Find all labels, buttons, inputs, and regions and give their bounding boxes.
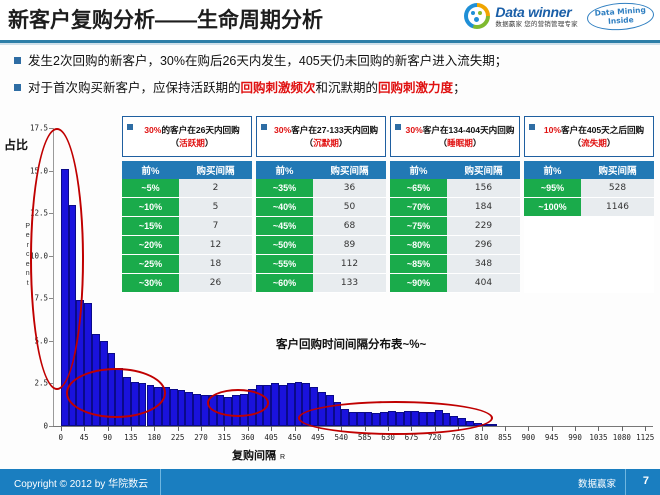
table-cell-percent: ~20% (122, 236, 179, 255)
x-axis-title-suffix: R (280, 454, 285, 461)
bullet-list: 发生2次回购的新客户，30%在购后26天内发生，405天仍未回购的新客户进入流失… (0, 48, 660, 102)
table-cell-interval: 68 (313, 217, 386, 236)
x-axis-tick-label: 765 (451, 433, 465, 442)
data-winner-logo-icon (464, 3, 490, 29)
table-cell-percent: ~90% (390, 274, 447, 293)
histogram-bar (287, 383, 295, 426)
x-axis-tick-mark (552, 426, 553, 431)
table-cell-interval: 50 (313, 198, 386, 217)
logo-dot-3 (474, 17, 479, 22)
bullet-plain: ； (453, 81, 466, 95)
x-axis-tick-label: 1080 (613, 433, 631, 442)
header-square-icon (261, 124, 267, 130)
x-axis-tick-mark (84, 426, 85, 431)
bullet-highlight: 回购刺激频次 (241, 81, 316, 95)
x-axis-tick-label: 405 (264, 433, 278, 442)
bullet-text: 发生2次回购的新客户，30%在购后26天内发生，405天仍未回购的新客户进入流失… (28, 52, 507, 71)
x-axis-tick-mark (154, 426, 155, 431)
y-axis-label-cn: 占比 (4, 136, 28, 153)
percent-column: 前%~95%~100% (524, 161, 581, 293)
histogram-bar (193, 394, 201, 426)
table-cell-percent: ~10% (122, 198, 179, 217)
table-cell-interval: 404 (447, 274, 520, 293)
bullet-item-1: 发生2次回购的新客户，30%在购后26天内发生，405天仍未回购的新客户进入流失… (0, 48, 660, 75)
period-table-header: 30%客户在27-133天内回购（沉默期） (256, 116, 386, 157)
x-axis-tick-label: 360 (241, 433, 255, 442)
table-cell-interval: 36 (313, 179, 386, 198)
x-axis-tick-label: 720 (428, 433, 442, 442)
period-table-4: 10%客户在405天之后回购（流失期）前%~95%~100%购买间隔528114… (524, 116, 654, 293)
x-axis-title-text: 复购间隔 (232, 450, 276, 462)
chart-caption: 客户回购时间间隔分布表~%~ (276, 336, 426, 352)
data-mining-inside-stamp-icon: Data Mining Inside (586, 1, 655, 32)
period-table-1: 30%的客户在26天内回购（活跃期）前%~5%~10%~15%~20%~25%~… (122, 116, 252, 293)
period-paren: ） (473, 138, 482, 148)
brand-text: Data winner 数据赢家 您的营销管理专家 (495, 5, 577, 29)
table-cell-percent: ~55% (256, 255, 313, 274)
table-cell-percent (524, 274, 581, 293)
brand-name: Data winner (495, 5, 577, 19)
x-axis-tick-mark (224, 426, 225, 431)
period-paren: ） (205, 138, 214, 148)
churn-period-ellipse-icon (298, 401, 493, 435)
interval-column: 购买间隔257121826 (179, 161, 252, 293)
column-header-percent: 前% (122, 161, 179, 179)
footer-copyright: Copyright © 2012 by 华院数云 (14, 475, 148, 490)
column-header-interval: 购买间隔 (581, 161, 654, 179)
table-cell-interval: 5 (179, 198, 252, 217)
period-header-text: 10%客户在405天之后回购（流失期） (539, 124, 649, 150)
x-axis-tick-label: 90 (103, 433, 112, 442)
x-axis-tick-label: 180 (148, 433, 162, 442)
table-cell-interval: 133 (313, 274, 386, 293)
table-cell-interval: 1146 (581, 198, 654, 217)
column-header-interval: 购买间隔 (313, 161, 386, 179)
x-axis-title: 复购间隔R (232, 447, 285, 463)
column-header-percent: 前% (524, 161, 581, 179)
x-axis-tick-mark (482, 426, 483, 431)
x-axis-tick-label: 135 (124, 433, 138, 442)
period-header-text: 30%客户在134-404天内回购（睡眠期） (405, 124, 515, 150)
table-cell-interval: 26 (179, 274, 252, 293)
x-axis-tick-label: 900 (522, 433, 536, 442)
table-cell-percent (524, 255, 581, 274)
slide-footer: Copyright © 2012 by 华院数云 数据赢家 7 (0, 469, 660, 495)
table-cell-interval: 156 (447, 179, 520, 198)
table-cell-interval: 348 (447, 255, 520, 274)
x-axis-tick-label: 495 (311, 433, 325, 442)
x-axis-tick-label: 1035 (589, 433, 607, 442)
table-cell-percent: ~80% (390, 236, 447, 255)
table-cell-percent: ~75% (390, 217, 447, 236)
bullet-text: 对于首次购买新客户，应保持活跃期的回购刺激频次和沉默期的回购刺激力度； (28, 79, 466, 98)
x-axis-tick-mark (178, 426, 179, 431)
period-percent: 30% (144, 125, 161, 135)
histogram-bar (185, 392, 193, 426)
interval-column: 购买间隔36506889112133 (313, 161, 386, 293)
period-stage-name: 流失期 (581, 138, 607, 148)
y-axis-tick-label: 17.5 (30, 124, 48, 133)
table-cell-percent: ~45% (256, 217, 313, 236)
bullet-plain: 发生2次回购的新客户，30%在购后26天内发生，405天仍未回购的新客户进入流失… (28, 54, 507, 68)
x-axis-tick-label: 270 (194, 433, 208, 442)
table-cell-interval: 12 (179, 236, 252, 255)
table-cell-percent: ~85% (390, 255, 447, 274)
period-header-text: 30%的客户在26天内回购（活跃期） (137, 124, 247, 150)
interval-column: 购买间隔5281146 (581, 161, 654, 293)
x-axis-tick-mark (528, 426, 529, 431)
period-table-2: 30%客户在27-133天内回购（沉默期）前%~35%~40%~45%~50%~… (256, 116, 386, 293)
table-cell-percent: ~60% (256, 274, 313, 293)
period-paren: ） (607, 138, 616, 148)
bullet-highlight: 回购刺激力度 (378, 81, 453, 95)
page-title: 新客户复购分析——生命周期分析 (8, 4, 323, 34)
table-cell-interval (581, 236, 654, 255)
slide-header: 新客户复购分析——生命周期分析 Data winner 数据赢家 您的营销管理专… (0, 0, 660, 40)
table-cell-percent: ~15% (122, 217, 179, 236)
column-header-interval: 购买间隔 (179, 161, 252, 179)
table-cell-interval (581, 217, 654, 236)
period-paren: ） (339, 138, 348, 148)
x-axis-tick-label: 1125 (636, 433, 654, 442)
x-axis-tick-mark (61, 426, 62, 431)
footer-brand: 数据赢家 (578, 476, 616, 490)
bullet-item-2: 对于首次购买新客户，应保持活跃期的回购刺激频次和沉默期的回购刺激力度； (0, 75, 660, 102)
x-axis-tick-label: 810 (475, 433, 489, 442)
table-cell-interval: 7 (179, 217, 252, 236)
table-cell-interval: 296 (447, 236, 520, 255)
x-axis-tick-label: 225 (171, 433, 185, 442)
table-cell-interval: 229 (447, 217, 520, 236)
period-tables: 30%的客户在26天内回购（活跃期）前%~5%~10%~15%~20%~25%~… (122, 116, 654, 293)
table-cell-percent: ~35% (256, 179, 313, 198)
x-axis-tick-label: 0 (59, 433, 64, 442)
slide-root: 新客户复购分析——生命周期分析 Data winner 数据赢家 您的营销管理专… (0, 0, 660, 495)
period-stage-name: 睡眠期 (447, 138, 473, 148)
brand-tagline: 数据赢家 您的营销管理专家 (495, 22, 577, 29)
table-cell-interval: 89 (313, 236, 386, 255)
table-cell-percent (524, 217, 581, 236)
x-axis-tick-label: 315 (218, 433, 232, 442)
period-table-body: 前%~65%~70%~75%~80%~85%~90%购买间隔1561842292… (390, 161, 520, 293)
x-axis-tick-label: 45 (80, 433, 89, 442)
period-percent: 10% (544, 125, 561, 135)
footer-divider-left (160, 469, 161, 495)
x-axis-tick-mark (505, 426, 506, 431)
bullet-plain: 和沉默期的 (316, 81, 379, 95)
bullet-square-icon (14, 57, 21, 64)
table-cell-percent: ~30% (122, 274, 179, 293)
x-axis-tick-mark (201, 426, 202, 431)
period-table-header: 30%的客户在26天内回购（活跃期） (122, 116, 252, 157)
table-cell-interval (581, 255, 654, 274)
x-axis-tick-mark (598, 426, 599, 431)
x-axis-tick-label: 450 (288, 433, 302, 442)
histogram-bar (279, 385, 287, 426)
interval-column: 购买间隔156184229296348404 (447, 161, 520, 293)
x-axis-tick-mark (622, 426, 623, 431)
column-header-percent: 前% (390, 161, 447, 179)
table-cell-percent: ~5% (122, 179, 179, 198)
header-square-icon (529, 124, 535, 130)
y-axis-tick-label: 0 (43, 422, 48, 431)
table-cell-percent: ~65% (390, 179, 447, 198)
table-cell-interval: 2 (179, 179, 252, 198)
bullet-plain: 对于首次购买新客户，应保持活跃期的 (28, 81, 241, 95)
x-axis-tick-label: 855 (498, 433, 512, 442)
period-table-3: 30%客户在134-404天内回购（睡眠期）前%~65%~70%~75%~80%… (390, 116, 520, 293)
percent-column: 前%~5%~10%~15%~20%~25%~30% (122, 161, 179, 293)
period-stage-name: 活跃期 (179, 138, 205, 148)
period-table-body: 前%~5%~10%~15%~20%~25%~30%购买间隔257121826 (122, 161, 252, 293)
footer-page-number: 7 (643, 475, 649, 487)
table-cell-percent: ~95% (524, 179, 581, 198)
logo-dot-1 (471, 11, 475, 15)
x-axis-tick-mark (575, 426, 576, 431)
table-cell-percent: ~25% (122, 255, 179, 274)
y-axis-tick-mark (49, 426, 53, 427)
x-axis-tick-label: 945 (545, 433, 559, 442)
histogram-bar (178, 390, 186, 426)
column-header-percent: 前% (256, 161, 313, 179)
x-axis-tick-label: 990 (568, 433, 582, 442)
period-percent: 30% (274, 125, 291, 135)
x-axis-tick-mark (295, 426, 296, 431)
histogram-bar (170, 389, 178, 426)
period-header-text: 30%客户在27-133天内回购（沉默期） (271, 124, 381, 150)
period-table-body: 前%~35%~40%~45%~50%~55%~60%购买间隔3650688911… (256, 161, 386, 293)
x-axis-tick-mark (248, 426, 249, 431)
table-cell-interval: 18 (179, 255, 252, 274)
percent-column: 前%~65%~70%~75%~80%~85%~90% (390, 161, 447, 293)
column-header-interval: 购买间隔 (447, 161, 520, 179)
footer-divider-right (625, 469, 626, 495)
table-cell-percent: ~50% (256, 236, 313, 255)
histogram-bar (271, 383, 279, 426)
header-divider-secondary (0, 43, 660, 45)
period-percent: 30% (406, 125, 423, 135)
brand-logo-group: Data winner 数据赢家 您的营销管理专家 Data Mining In… (464, 3, 654, 30)
table-cell-interval (581, 274, 654, 293)
x-axis-tick-label: 540 (335, 433, 349, 442)
period-table-header: 10%客户在405天之后回购（流失期） (524, 116, 654, 157)
table-cell-interval: 112 (313, 255, 386, 274)
table-cell-percent: ~40% (256, 198, 313, 217)
logo-dot-2 (478, 11, 482, 15)
x-axis-tick-mark (108, 426, 109, 431)
table-cell-interval: 184 (447, 198, 520, 217)
table-cell-interval: 528 (581, 179, 654, 198)
active-period-ellipse-icon (30, 128, 84, 390)
table-cell-percent: ~70% (390, 198, 447, 217)
bullet-square-icon (14, 84, 21, 91)
header-square-icon (127, 124, 133, 130)
period-table-header: 30%客户在134-404天内回购（睡眠期） (390, 116, 520, 157)
x-axis-tick-mark (645, 426, 646, 431)
table-cell-percent: ~100% (524, 198, 581, 217)
silent-period-ellipse-icon (66, 368, 166, 418)
period-table-body: 前%~95%~100%购买间隔5281146 (524, 161, 654, 293)
period-stage-name: 沉默期 (313, 138, 339, 148)
x-axis-tick-mark (131, 426, 132, 431)
header-square-icon (395, 124, 401, 130)
percent-column: 前%~35%~40%~45%~50%~55%~60% (256, 161, 313, 293)
sleep-period-ellipse-icon (207, 389, 269, 417)
table-cell-percent (524, 236, 581, 255)
x-axis-tick-mark (271, 426, 272, 431)
